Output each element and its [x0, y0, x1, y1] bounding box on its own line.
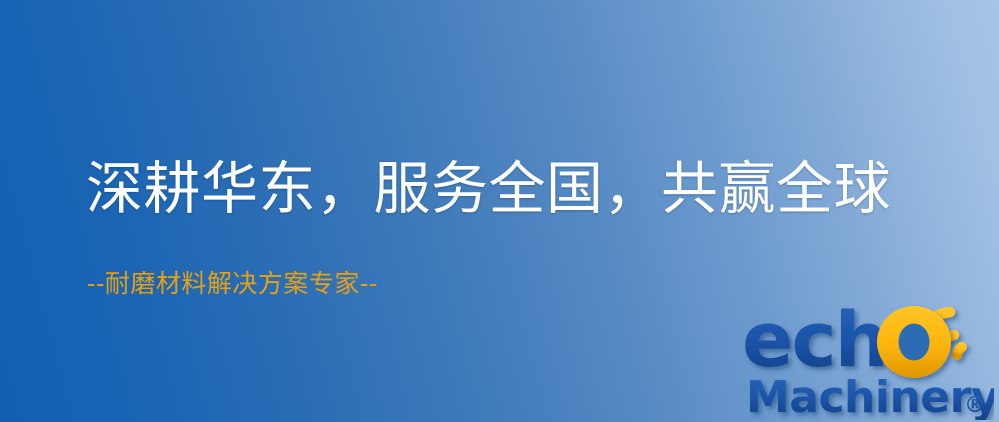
logo-subtext: Machinery ® — [746, 372, 994, 420]
svg-text:®: ® — [964, 393, 986, 418]
banner-subtitle: --耐磨材料解决方案专家-- — [87, 269, 378, 299]
logo-accent-o — [877, 306, 951, 378]
svg-text:ech: ech — [742, 295, 887, 384]
logo-wordmark-echo: ech — [742, 295, 951, 384]
svg-text:Machinery: Machinery — [746, 372, 994, 420]
promo-banner: 深耕华东，服务全国，共赢全球 --耐磨材料解决方案专家-- — [0, 0, 999, 422]
banner-headline: 深耕华东，服务全国，共赢全球 — [86, 156, 891, 222]
echo-machinery-logo[interactable]: ech Machinery ® — [742, 292, 994, 420]
